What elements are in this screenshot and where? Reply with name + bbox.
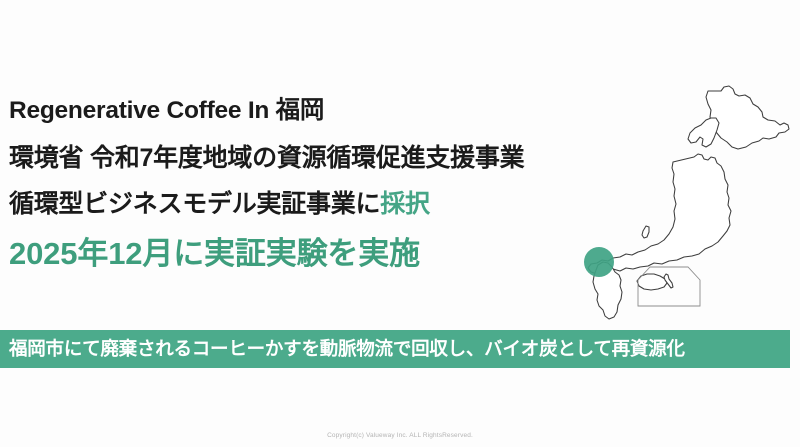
headline-line-3-plain: 循環型ビジネスモデル実証事業に — [9, 190, 380, 218]
footer: Copyright(c) Valueway Inc. ALL RightsRes… — [0, 424, 800, 442]
fukuoka-marker — [584, 247, 614, 277]
japan-map — [565, 58, 797, 320]
headline-line-3: 循環型ビジネスモデル実証事業に採択 — [9, 189, 569, 219]
headline-line-3-accent: 採択 — [380, 190, 430, 218]
headline-line-1: Regenerative Coffee In 福岡 — [9, 96, 569, 126]
copyright-text: Copyright(c) Valueway Inc. ALL RightsRes… — [327, 432, 473, 439]
headline-line-4: 2025年12月に実証実験を実施 — [9, 235, 569, 273]
headline-line-2: 環境省 令和7年度地域の資源循環促進支援事業 — [9, 143, 569, 173]
map-region-oshima-peninsula — [688, 118, 719, 147]
highlight-banner: 福岡市にて廃棄されるコーヒーかすを動脈物流で回収し、バイオ炭として再資源化 — [0, 330, 790, 368]
map-region-noto-peninsula — [642, 226, 649, 238]
slide-canvas: Regenerative Coffee In 福岡 環境省 令和7年度地域の資源… — [0, 0, 800, 447]
headline-block: Regenerative Coffee In 福岡 環境省 令和7年度地域の資源… — [9, 96, 569, 273]
map-region-hokkaido — [706, 86, 789, 149]
banner-text: 福岡市にて廃棄されるコーヒーかすを動脈物流で回収し、バイオ炭として再資源化 — [9, 340, 685, 359]
